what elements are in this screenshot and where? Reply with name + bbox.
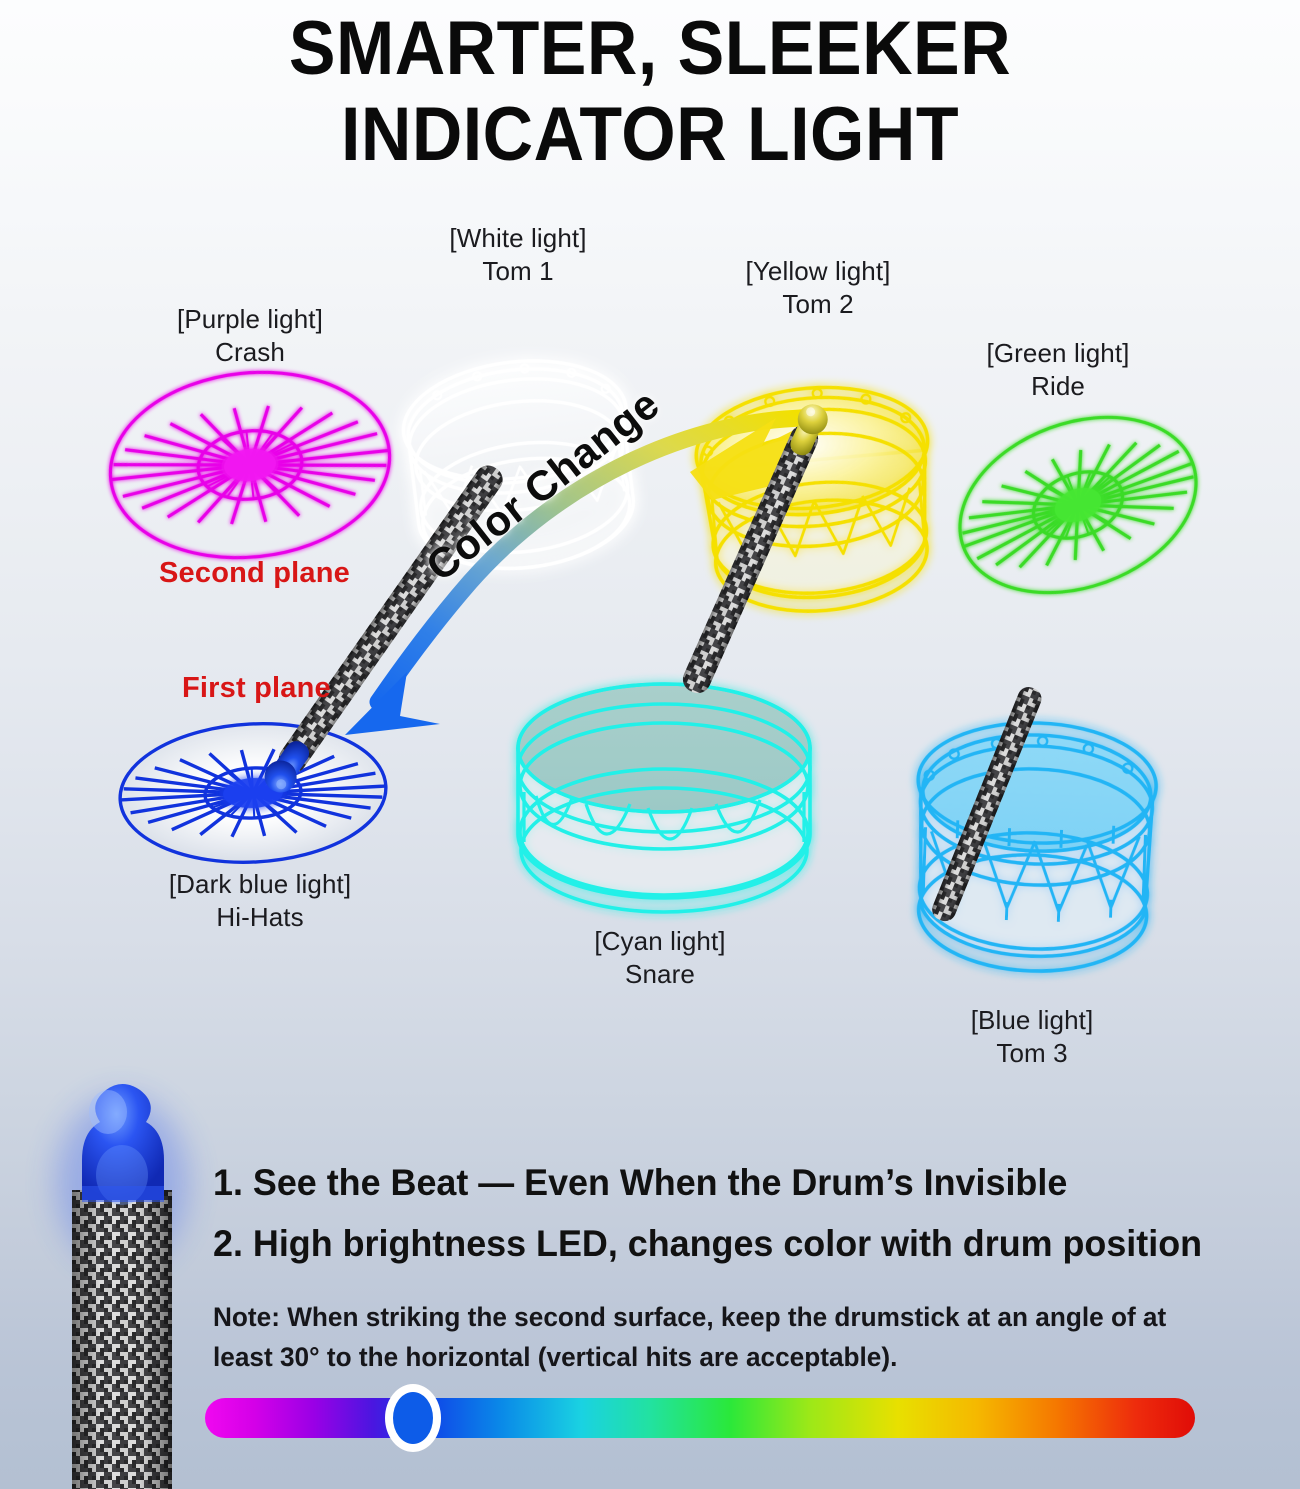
label-ride: [Green light] Ride: [908, 337, 1208, 403]
label-first-plane: First plane: [182, 672, 331, 705]
label-hihat-light: [Dark blue light]: [110, 868, 410, 901]
label-crash: [Purple light] Crash: [100, 303, 400, 369]
label-hihat-name: Hi-Hats: [110, 901, 410, 934]
feature-bullet-1: 1. See the Beat — Even When the Drum’s I…: [213, 1162, 1067, 1204]
label-snare-name: Snare: [510, 958, 810, 991]
label-tom1: [White light] Tom 1: [368, 222, 668, 288]
color-slider-thumb[interactable]: [385, 1384, 441, 1452]
crash-cymbal-graphic: [101, 359, 399, 571]
color-slider[interactable]: [205, 1398, 1195, 1438]
drumstick-closeup: [56, 1084, 188, 1489]
ride-cymbal-graphic: [935, 386, 1220, 624]
label-snare-light: [Cyan light]: [510, 925, 810, 958]
hihat-cymbal-graphic: [117, 717, 390, 869]
label-crash-name: Crash: [100, 336, 400, 369]
snare-drum-graphic: [518, 684, 810, 912]
label-tom1-name: Tom 1: [368, 255, 668, 288]
label-hihat: [Dark blue light] Hi-Hats: [110, 868, 410, 934]
infographic-canvas: SMARTER, SLEEKER INDICATOR LIGHT: [0, 0, 1300, 1489]
feature-bullet-2: 2. High brightness LED, changes color wi…: [213, 1223, 1202, 1265]
label-tom2-light: [Yellow light]: [668, 255, 968, 288]
label-tom3-name: Tom 3: [882, 1037, 1182, 1070]
label-ride-name: Ride: [908, 370, 1208, 403]
label-second-plane: Second plane: [159, 557, 350, 590]
label-crash-light: [Purple light]: [100, 303, 400, 336]
label-tom2-name: Tom 2: [668, 288, 968, 321]
label-tom2: [Yellow light] Tom 2: [668, 255, 968, 321]
label-tom3: [Blue light] Tom 3: [882, 1004, 1182, 1070]
color-slider-track[interactable]: [205, 1398, 1195, 1438]
label-tom1-light: [White light]: [368, 222, 668, 255]
label-snare: [Cyan light] Snare: [510, 925, 810, 991]
tom3-drum-graphic: [912, 719, 1159, 975]
label-tom3-light: [Blue light]: [882, 1004, 1182, 1037]
usage-note: Note: When striking the second surface, …: [213, 1297, 1183, 1377]
label-ride-light: [Green light]: [908, 337, 1208, 370]
